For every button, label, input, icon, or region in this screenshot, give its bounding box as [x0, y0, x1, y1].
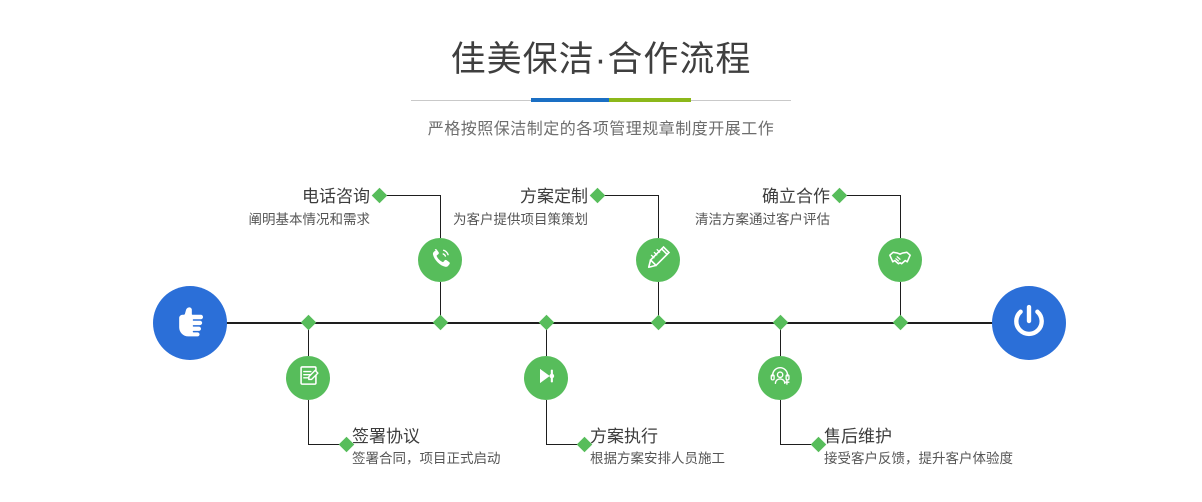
axis-diamond-step-1 — [433, 315, 449, 331]
label-title-step-3: 方案定制 — [443, 186, 588, 208]
node-icon-step-4[interactable] — [524, 356, 568, 400]
label-title-step-4: 方案执行 — [590, 426, 725, 448]
connector-hline-step-3 — [598, 195, 658, 196]
label-step-2: 签署协议 签署合同，项目正式启动 — [352, 426, 501, 469]
node-icon-step-2[interactable] — [286, 356, 330, 400]
connector-hline-step-1 — [380, 195, 440, 196]
timeline-start-node[interactable] — [153, 286, 227, 360]
axis-diamond-step-5 — [893, 315, 909, 331]
node-icon-step-3[interactable] — [636, 238, 680, 282]
connector-diamond-step-3 — [590, 188, 606, 204]
connector-diamond-step-1 — [372, 188, 388, 204]
label-desc-step-4: 根据方案安排人员施工 — [590, 448, 725, 469]
power-icon — [1008, 300, 1050, 347]
label-desc-step-2: 签署合同，项目正式启动 — [352, 448, 501, 469]
label-step-1: 电话咨询 阐明基本情况和需求 — [225, 186, 370, 230]
axis-diamond-step-6 — [773, 315, 789, 331]
label-title-step-1: 电话咨询 — [225, 186, 370, 208]
pencil-ruler-icon — [645, 245, 671, 276]
connector-hline-step-5 — [840, 195, 900, 196]
connector-vline-step-5 — [900, 195, 901, 238]
axis-diamond-step-4 — [539, 315, 555, 331]
label-step-3: 方案定制 为客户提供项目策策划 — [443, 186, 588, 230]
connector-vline-step-6 — [780, 400, 781, 444]
label-step-5: 确立合作 清洁方案通过客户评估 — [685, 186, 830, 230]
node-icon-step-5[interactable] — [878, 238, 922, 282]
skip-forward-icon — [534, 364, 558, 393]
headset-support-icon — [768, 363, 793, 393]
node-icon-step-6[interactable] — [758, 356, 802, 400]
process-timeline: 电话咨询 阐明基本情况和需求 签署协议 签署合同，项目正式启动 — [0, 0, 1202, 502]
label-title-step-5: 确立合作 — [685, 186, 830, 208]
connector-vline-step-3 — [658, 195, 659, 238]
pointing-hand-icon — [170, 301, 210, 346]
axis-diamond-step-3 — [651, 315, 667, 331]
label-step-4: 方案执行 根据方案安排人员施工 — [590, 426, 725, 469]
phone-call-icon — [427, 245, 453, 276]
label-desc-step-1: 阐明基本情况和需求 — [225, 208, 370, 230]
label-title-step-2: 签署协议 — [352, 426, 501, 448]
connector-vline-step-1 — [440, 195, 441, 238]
connector-vline-step-4 — [546, 400, 547, 444]
timeline-end-node[interactable] — [992, 286, 1066, 360]
handshake-icon — [887, 245, 913, 276]
infographic-root: 佳美保洁·合作流程 严格按照保洁制定的各项管理规章制度开展工作 — [0, 0, 1202, 502]
sign-document-icon — [296, 363, 321, 393]
node-icon-step-1[interactable] — [418, 238, 462, 282]
label-step-6: 售后维护 接受客户反馈，提升客户体验度 — [824, 426, 1013, 469]
label-title-step-6: 售后维护 — [824, 426, 1013, 448]
label-desc-step-3: 为客户提供项目策策划 — [443, 208, 588, 230]
label-desc-step-6: 接受客户反馈，提升客户体验度 — [824, 448, 1013, 469]
connector-vline-step-2 — [308, 400, 309, 444]
axis-diamond-step-2 — [301, 315, 317, 331]
label-desc-step-5: 清洁方案通过客户评估 — [685, 208, 830, 230]
connector-diamond-step-5 — [832, 188, 848, 204]
